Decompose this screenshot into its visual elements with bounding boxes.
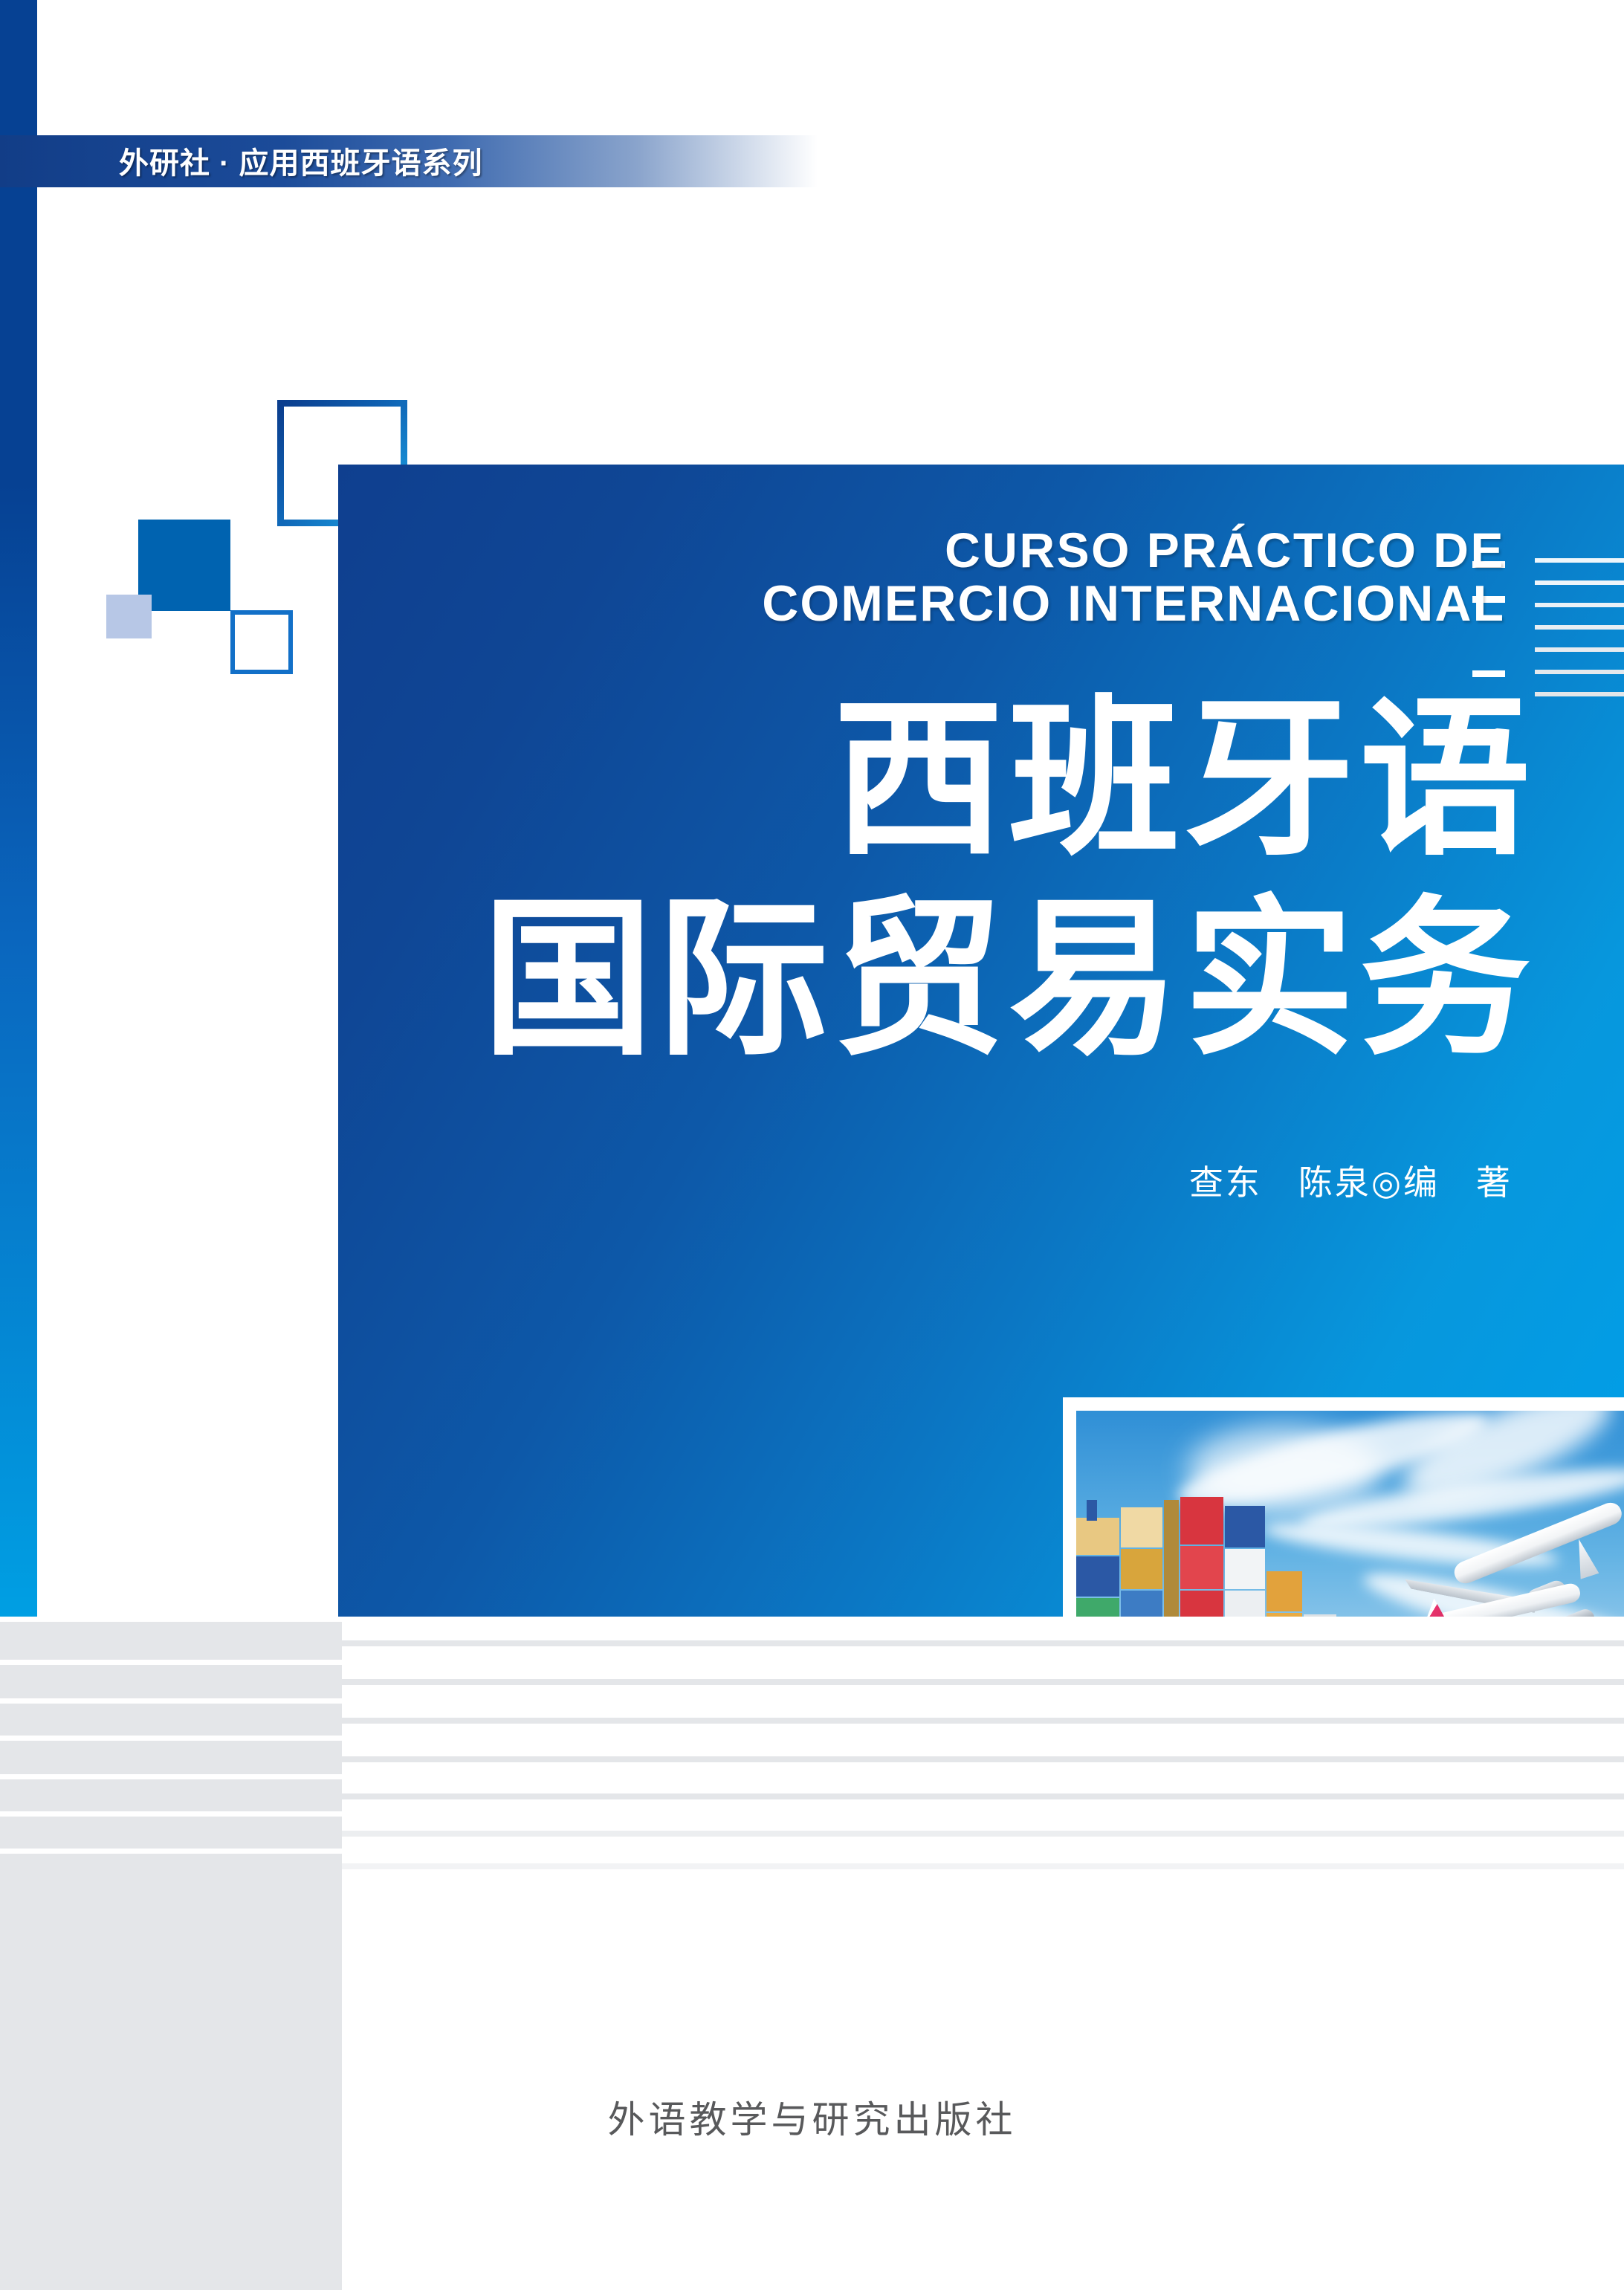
series-banner: 外研社 · 应用西班牙语系列 (0, 135, 818, 187)
container (1076, 1518, 1119, 1555)
decorative-square-filled-blue (138, 520, 230, 611)
publisher-name: 外语教学与研究出版社 (0, 2090, 1624, 2144)
container (1076, 1556, 1119, 1597)
page-title-line2: 国际贸易实务 (338, 880, 1535, 1080)
container (1225, 1506, 1265, 1547)
spanish-subtitle: CURSO PRÁCTICO DE COMERCIO INTERNACIONAL (338, 524, 1505, 632)
airplane-tailfin (1569, 1536, 1599, 1579)
book-cover: 外研社 · 应用西班牙语系列 CURSO PRÁCTICO DE COMERCI… (0, 0, 1624, 2290)
series-banner-label: 外研社 · 应用西班牙语系列 (119, 139, 483, 182)
container-mast (1087, 1500, 1097, 1521)
container (1225, 1549, 1265, 1589)
container (1180, 1497, 1223, 1545)
container (1121, 1549, 1162, 1589)
page-title: 西班牙语 国际贸易实务 (338, 680, 1535, 1080)
footer-stripes-right (342, 1617, 1624, 2290)
spanish-subtitle-line1: CURSO PRÁCTICO DE (945, 523, 1505, 578)
container (1180, 1546, 1223, 1589)
container (1121, 1507, 1162, 1547)
page-title-line1: 西班牙语 (338, 680, 1535, 880)
decorative-square-outline-small (230, 610, 293, 674)
decorative-rule-lines (1535, 558, 1624, 714)
container (1266, 1571, 1302, 1611)
footer-stripes-left (0, 1617, 342, 2290)
spine-accent-bar (0, 0, 37, 1617)
spanish-subtitle-line2: COMERCIO INTERNACIONAL (338, 577, 1505, 631)
author-line: 查东 陈泉◎编 著 (338, 1156, 1513, 1205)
decorative-square-filled-pale (106, 595, 152, 638)
